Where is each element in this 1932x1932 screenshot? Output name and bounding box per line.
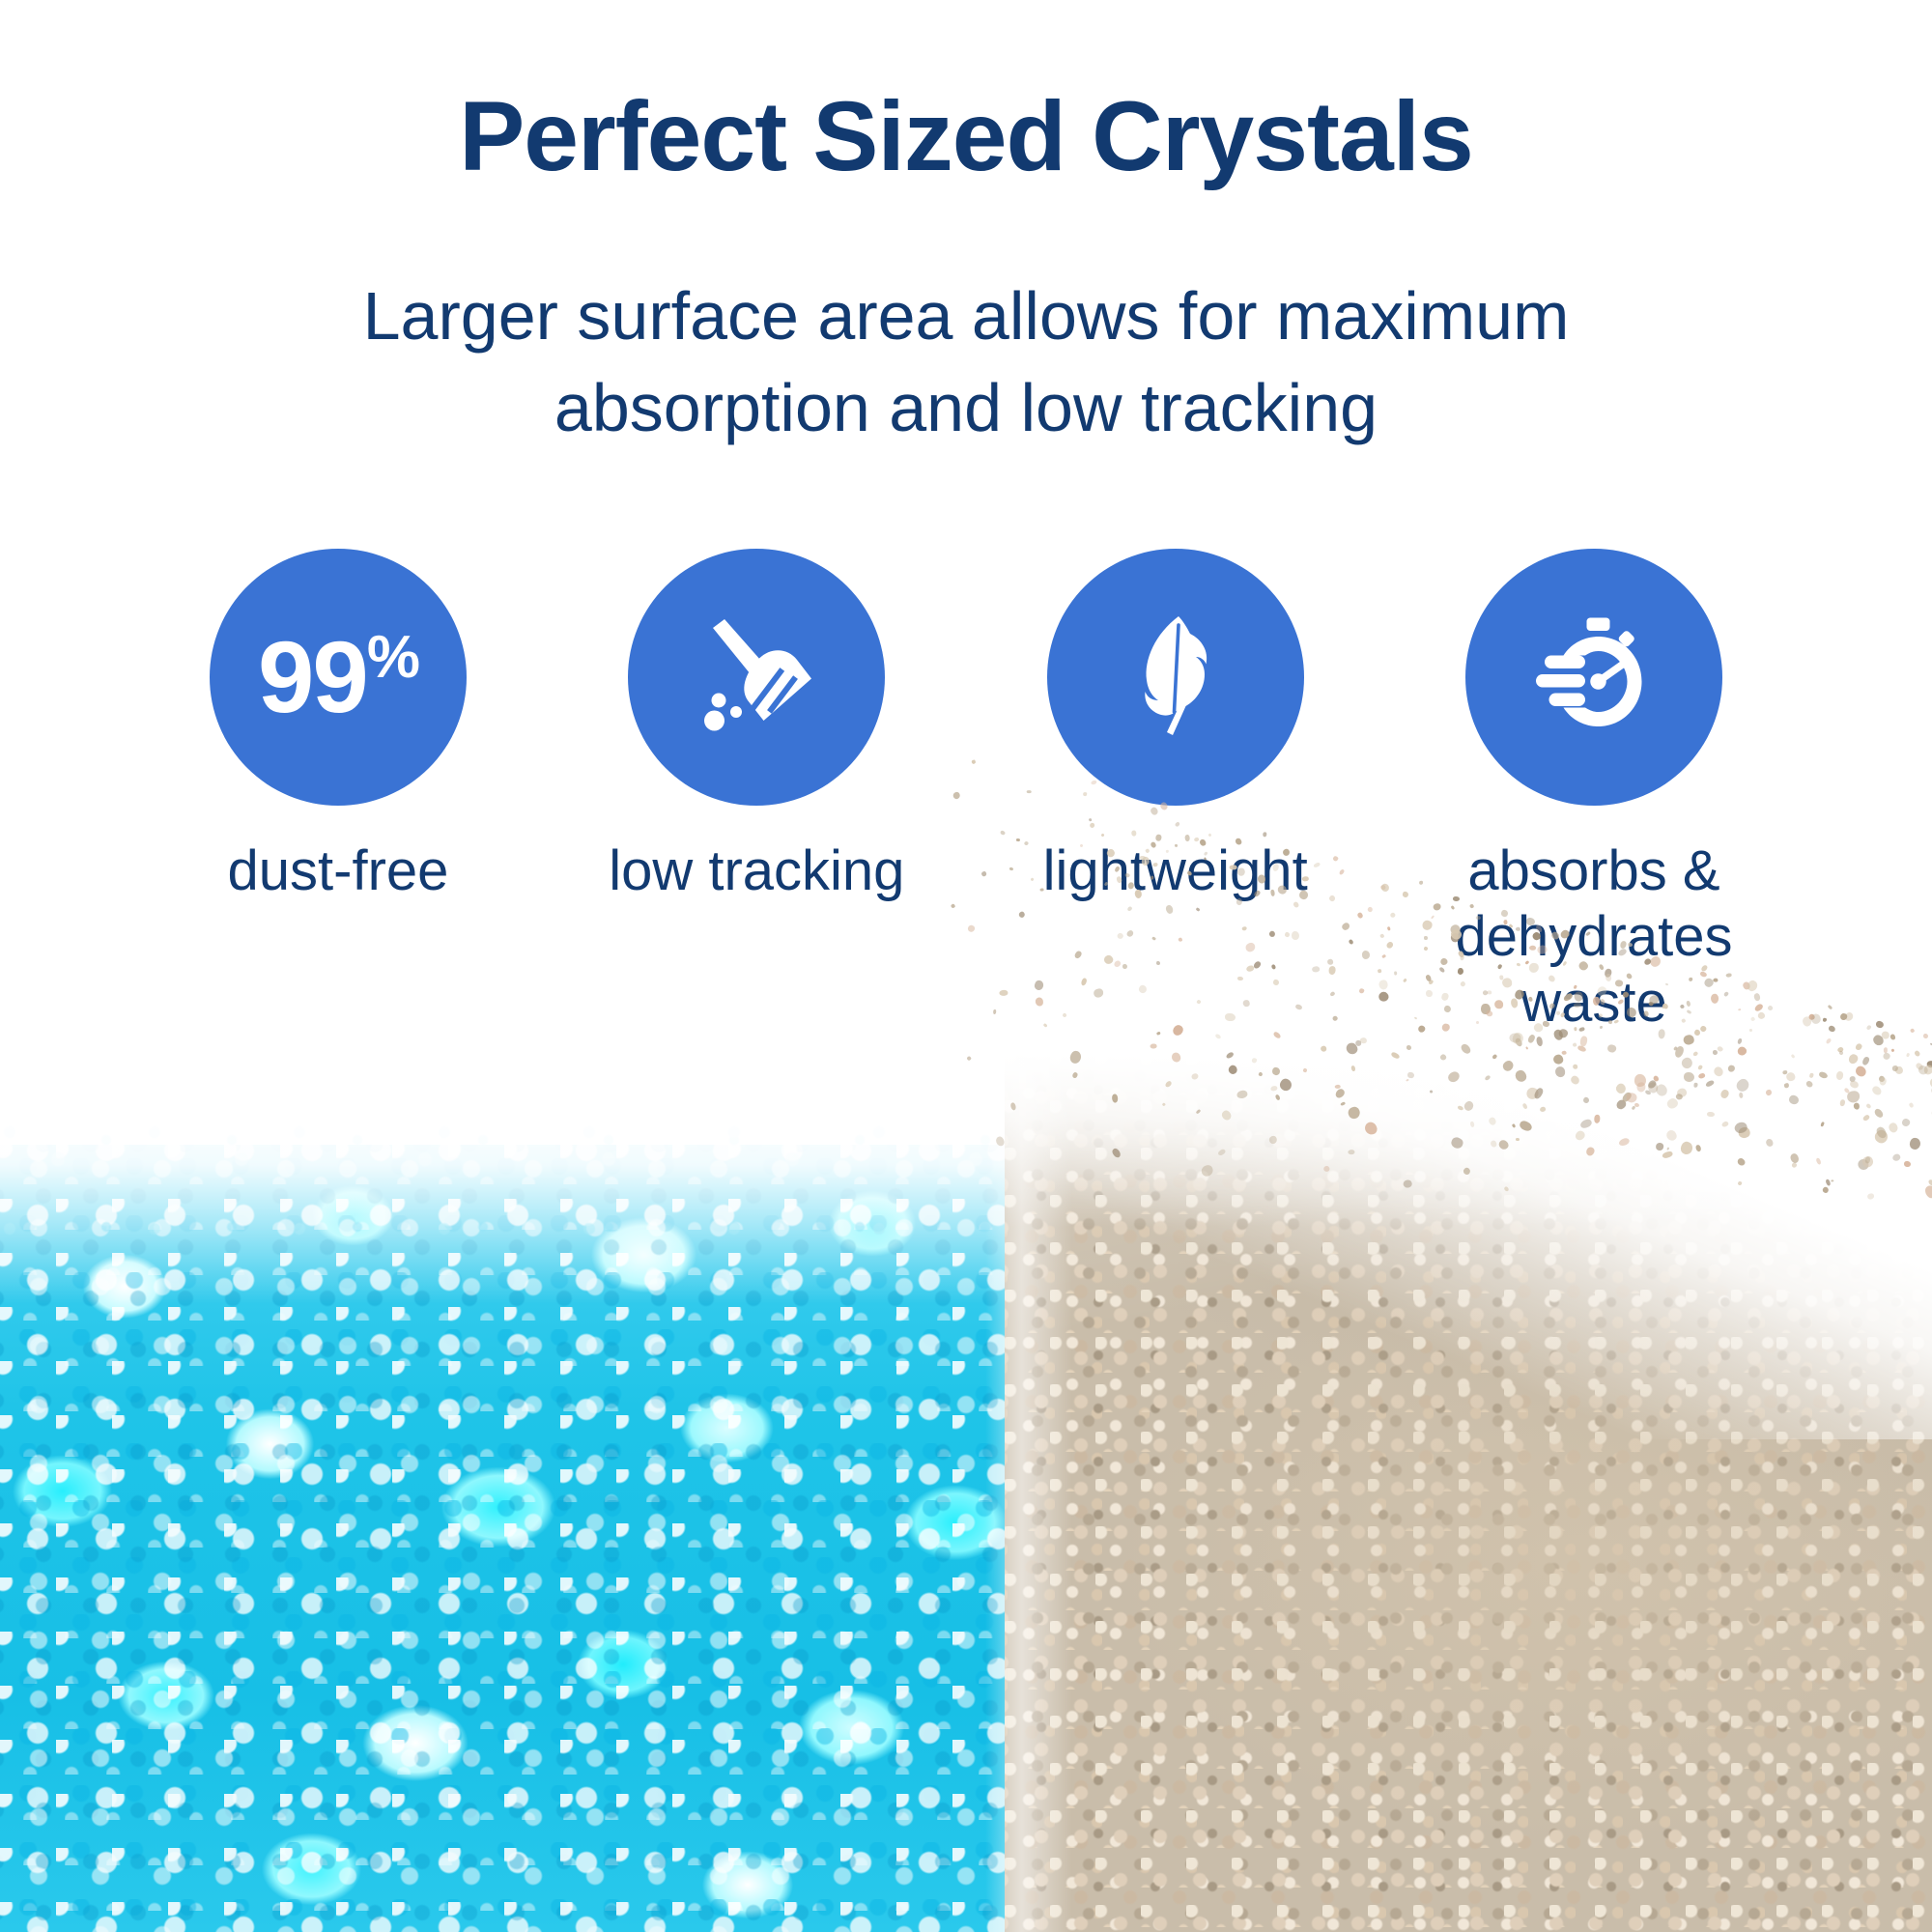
feature-badge-lightweight: lightweight bbox=[992, 549, 1359, 904]
badge-label-low-tracking: low tracking bbox=[609, 838, 904, 904]
infographic-page: Perfect Sized Crystals Larger surface ar… bbox=[0, 0, 1932, 1932]
texture-seam bbox=[985, 1053, 1072, 1932]
percent-symbol: % bbox=[367, 624, 418, 691]
subtitle-line-2: absorption and low tracking bbox=[0, 362, 1932, 454]
badge-circle bbox=[628, 549, 885, 806]
badge-label-absorbs-dehydrates: absorbs & dehydrates waste bbox=[1410, 838, 1777, 1036]
page-title: Perfect Sized Crystals bbox=[0, 83, 1932, 189]
gravel-top-fade bbox=[1005, 1053, 1932, 1227]
tan-clay-litter-texture bbox=[1005, 1053, 1932, 1932]
broom-sweep-icon bbox=[684, 605, 829, 750]
percent-value: 99 bbox=[258, 621, 367, 734]
badge-label-lightweight: lightweight bbox=[1043, 838, 1308, 904]
badge-label-dust-free: dust-free bbox=[228, 838, 449, 904]
blue-crystal-litter-texture bbox=[0, 1053, 1038, 1932]
feature-badge-absorbs-dehydrates: absorbs & dehydrates waste bbox=[1410, 549, 1777, 1036]
feature-badge-dust-free: 99% dust-free bbox=[155, 549, 522, 904]
percent-99-icon: 99% bbox=[258, 627, 418, 728]
crystal-top-fade bbox=[0, 1111, 1038, 1304]
badge-circle: 99% bbox=[210, 549, 467, 806]
badge-circle bbox=[1465, 549, 1722, 806]
badge-circle bbox=[1047, 549, 1304, 806]
feature-badge-low-tracking: low tracking bbox=[573, 549, 940, 904]
feature-badge-row: 99% dust-free bbox=[155, 549, 1777, 964]
product-comparison-photo bbox=[0, 1053, 1932, 1932]
page-subtitle: Larger surface area allows for maximum a… bbox=[0, 270, 1932, 454]
fast-stopwatch-icon bbox=[1521, 605, 1666, 750]
subtitle-line-1: Larger surface area allows for maximum bbox=[363, 278, 1570, 354]
feather-icon bbox=[1103, 605, 1248, 750]
